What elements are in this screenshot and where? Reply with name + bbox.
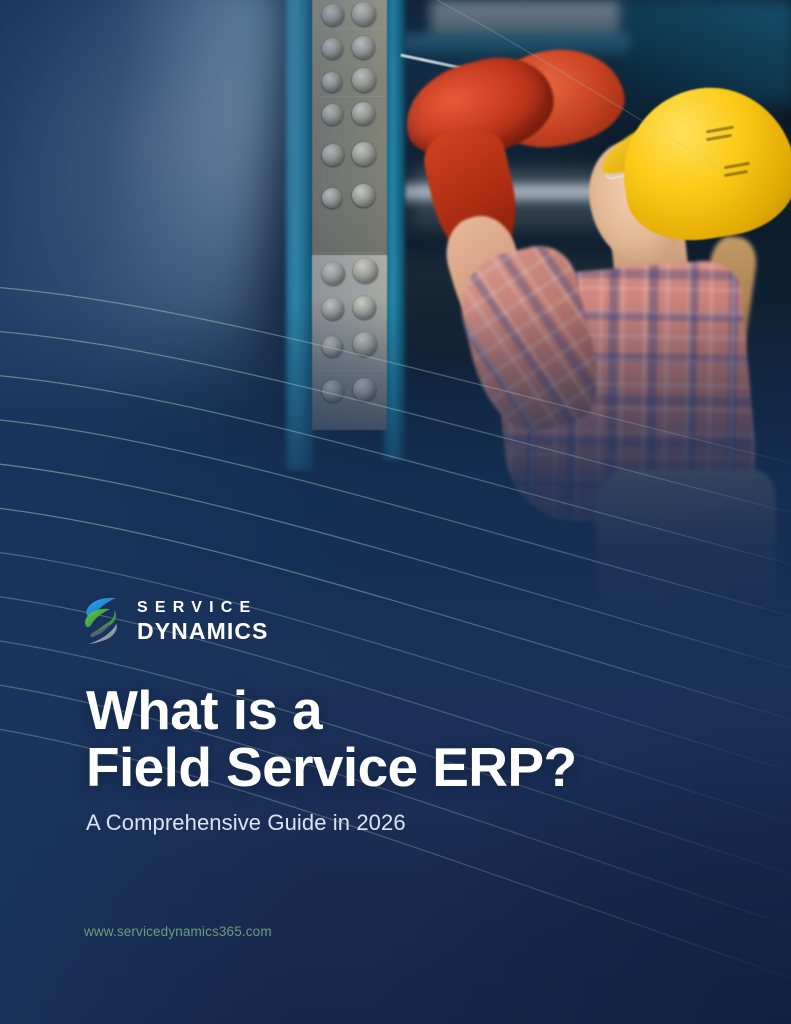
cover-title: What is a Field Service ERP? <box>86 682 726 796</box>
logo-swoosh-icon <box>83 596 123 646</box>
brand-wordmark: SERVICE DYNAMICS <box>137 600 268 643</box>
cover-subtitle: A Comprehensive Guide in 2026 <box>86 810 406 836</box>
cover-title-line2: Field Service ERP? <box>86 739 726 796</box>
brand-name-line1: SERVICE <box>137 600 268 616</box>
decorative-curve-lines <box>0 0 791 1024</box>
brand-logo: SERVICE DYNAMICS <box>83 596 268 646</box>
service-dynamics-swoosh-logo <box>83 596 123 646</box>
cover-title-line1: What is a <box>86 682 726 739</box>
cover-page: SERVICE DYNAMICS What is a Field Service… <box>0 0 791 1024</box>
website-url[interactable]: www.servicedynamics365.com <box>84 924 272 939</box>
brand-name-line2: DYNAMICS <box>137 620 268 643</box>
